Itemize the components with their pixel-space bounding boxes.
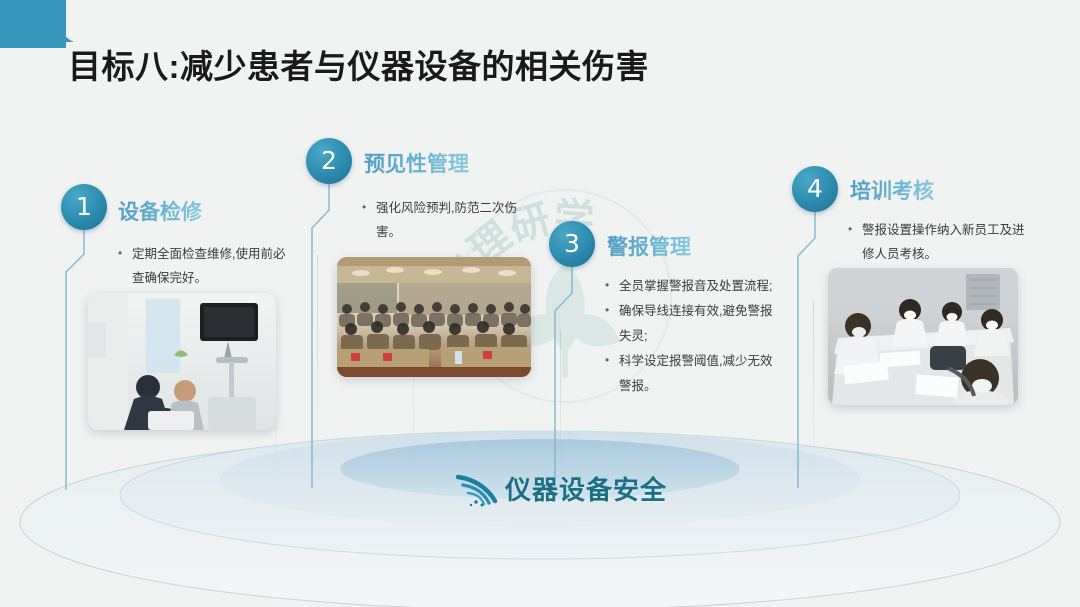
item-3-number: 3 [564,229,580,258]
bullet-text: 警报设置操作纳入新员工及进修人员考核。 [862,218,1027,267]
item-4-heading: 培训考核 [850,175,934,205]
item-4-number: 4 [807,174,823,203]
bullet-text: 确保导线连接有效,避免警报失灵; [619,299,784,348]
bullet-text: 科学设定报警阈值,减少无效警报。 [619,349,784,398]
item-3-heading: 警报管理 [607,231,691,261]
list-item: • 警报设置操作纳入新员工及进修人员考核。 [848,218,1040,267]
bullet-marker-icon: • [118,242,132,291]
bullet-text: 定期全面检查维修,使用前必查确保完好。 [132,242,297,291]
item-1-number: 1 [76,192,92,221]
item-1-badge: 1 [61,184,107,230]
bullet-text: 强化风险预判,防范二次伤害。 [376,196,541,245]
item-2-bullets: • 强化风险预判,防范二次伤害。 [362,196,552,246]
swoosh-icon [455,471,501,507]
connector-line-4 [791,210,831,492]
bullet-marker-icon: • [848,218,862,267]
bullet-marker-icon: • [605,274,619,298]
item-4-bullets: • 警报设置操作纳入新员工及进修人员考核。 [848,218,1040,268]
item-2-photo [337,257,531,377]
slide-canvas: 护理研学 [0,0,1080,607]
bottom-banner: 仪器设备安全 [455,470,667,507]
corner-accent-strip [0,0,66,48]
item-1-heading: 设备检修 [118,196,202,226]
item-3-badge: 3 [549,221,595,267]
list-item: • 全员掌握警报音及处置流程; [605,274,795,298]
bullet-text: 全员掌握警报音及处置流程; [619,274,772,298]
item-4-badge: 4 [792,166,838,212]
item-2-badge: 2 [306,138,352,184]
list-item: • 定期全面检查维修,使用前必查确保完好。 [118,242,308,291]
item-4-photo [828,268,1018,405]
item-1-bullets: • 定期全面检查维修,使用前必查确保完好。 [118,242,308,292]
page-title: 目标八:减少患者与仪器设备的相关伤害 [68,40,649,88]
bullet-marker-icon: • [605,299,619,348]
bullet-marker-icon: • [605,349,619,398]
bullet-marker-icon: • [362,196,376,245]
list-item: • 确保导线连接有效,避免警报失灵; [605,299,795,348]
item-1-photo [88,293,276,430]
item-2-number: 2 [321,146,337,175]
list-item: • 强化风险预判,防范二次伤害。 [362,196,552,245]
item-2-heading: 预见性管理 [364,148,469,178]
bottom-platform-graphic [0,417,1080,607]
connector-line-3 [548,265,588,491]
banner-label: 仪器设备安全 [505,470,667,507]
list-item: • 科学设定报警阈值,减少无效警报。 [605,349,795,398]
item-3-bullets: • 全员掌握警报音及处置流程; • 确保导线连接有效,避免警报失灵; • 科学设… [605,274,795,399]
